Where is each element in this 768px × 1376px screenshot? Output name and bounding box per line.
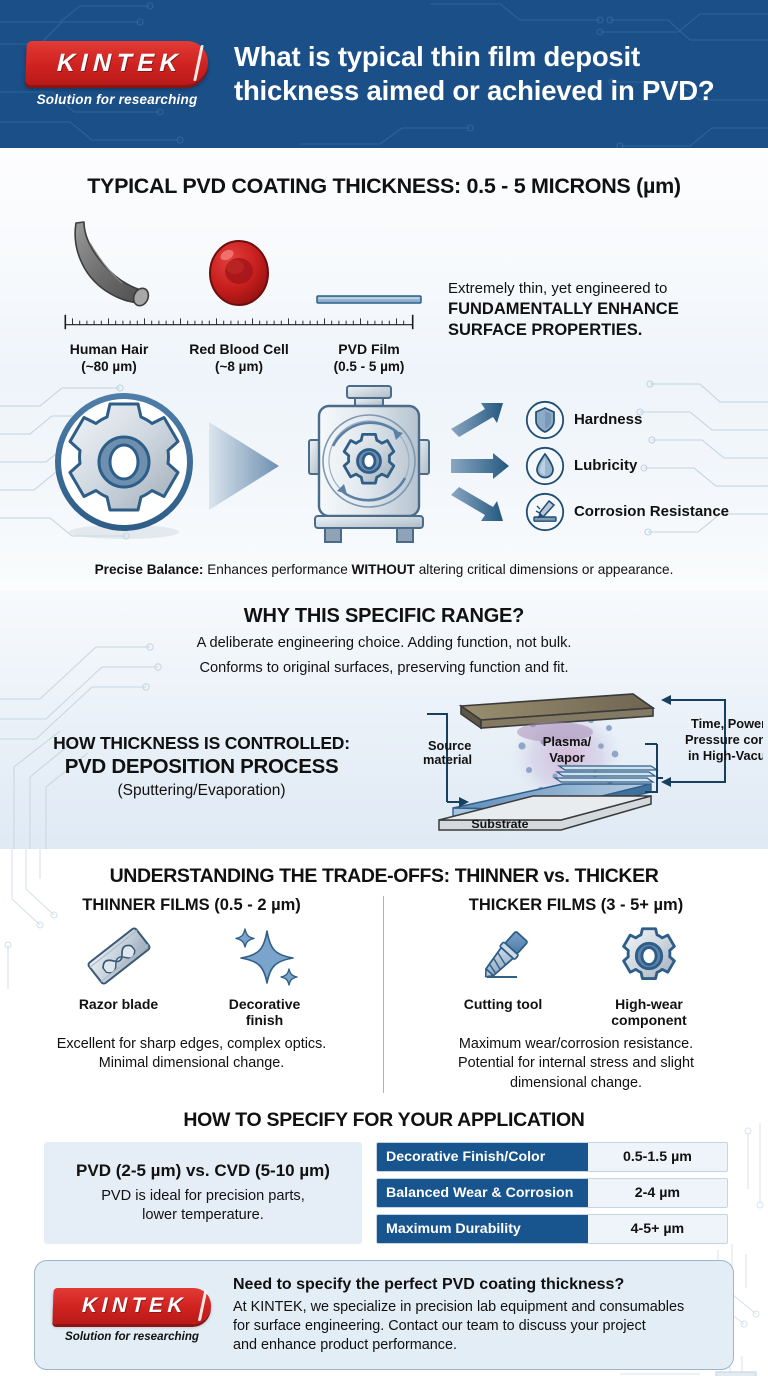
section-specify: HOW TO SPECIFY FOR YOUR APPLICATION PVD …	[0, 1093, 768, 1244]
scale-item-value: (~8 µm)	[174, 358, 304, 376]
gear-icon	[611, 925, 687, 987]
section-tradeoffs: UNDERSTANDING THE TRADE-OFFS: THINNER vs…	[0, 849, 768, 1093]
specify-title: HOW TO SPECIFY FOR YOUR APPLICATION	[0, 1109, 768, 1132]
table-row: Balanced Wear & Corrosion 2-4 µm	[376, 1178, 728, 1208]
cta-logo: KINTEK Solution for researching	[53, 1288, 221, 1343]
droplet-icon	[525, 446, 565, 486]
thickness-title: TYPICAL PVD COATING THICKNESS: 0.5 - 5 M…	[0, 174, 768, 199]
shield-icon	[525, 400, 565, 440]
table-cell-value: 2-4 µm	[588, 1179, 727, 1207]
table-row: Decorative Finish/Color 0.5-1.5 µm	[376, 1142, 728, 1172]
precise-balance-text-2: altering critical dimensions or appearan…	[415, 562, 673, 577]
cta-text: Need to specify the perfect PVD coating …	[233, 1275, 717, 1355]
plasma-label-2: Vapor	[549, 750, 585, 765]
infographic-page: KINTEK Solution for researching What is …	[0, 0, 768, 1376]
scale-label-item: Human Hair (~80 µm)	[44, 340, 174, 376]
thinner-heading: THINNER FILMS (0.5 - 2 µm)	[14, 896, 369, 915]
scale-item-name: Red Blood Cell	[174, 340, 304, 358]
scale-labels: Human Hair (~80 µm) Red Blood Cell (~8 µ…	[44, 340, 434, 376]
thinner-icons: Razor blade Decorative finish	[14, 925, 369, 1028]
thickness-note: Extremely thin, yet engineered to FUNDAM…	[434, 279, 726, 376]
precise-balance-note: Precise Balance: Enhances performance WI…	[0, 550, 768, 591]
precise-balance-emphasis: WITHOUT	[352, 562, 415, 577]
tradeoffs-thicker-column: THICKER FILMS (3 - 5+ µm)	[384, 896, 768, 1093]
ruler-scale	[44, 313, 434, 331]
precise-balance-label: Precise Balance:	[95, 562, 204, 577]
pvd-film-bar-icon	[315, 291, 423, 309]
thicker-body-line1: Maximum wear/corrosion resistance.	[398, 1035, 754, 1054]
thicker-icon-gear: High-wear component	[593, 925, 705, 1028]
pvd-cvd-heading: PVD (2-5 µm) vs. CVD (5-10 µm)	[76, 1161, 330, 1181]
component-gear-icon	[39, 382, 209, 550]
table-cell-key: Decorative Finish/Color	[377, 1143, 588, 1171]
page-header: KINTEK Solution for researching What is …	[0, 0, 768, 148]
benefits-list: Hardness Lubricity	[525, 397, 729, 535]
specimen-row	[44, 213, 434, 309]
why-range-title: WHY THIS SPECIFIC RANGE?	[0, 605, 768, 628]
section-process-benefits: Hardness Lubricity	[0, 376, 768, 591]
thicker-icons: Cutting tool High-wear component	[398, 925, 754, 1028]
cta-logo-tagline: Solution for researching	[53, 1330, 211, 1343]
pvd-cvd-line2: lower temperature.	[142, 1206, 264, 1225]
vacuum-chamber-icon	[289, 382, 449, 550]
thickness-note-line1: Extremely thin, yet engineered to	[448, 279, 726, 299]
scale-label-item: Red Blood Cell (~8 µm)	[174, 340, 304, 376]
sparkle-icon	[227, 925, 303, 987]
thinner-icon-sparkle: Decorative finish	[209, 925, 321, 1028]
table-cell-key: Maximum Durability	[377, 1215, 588, 1243]
source-material-label-2: material	[423, 752, 472, 767]
benefit-label: Lubricity	[574, 457, 637, 474]
pvd-cvd-line1: PVD is ideal for precision parts,	[101, 1187, 305, 1206]
thicker-icon-caption: Cutting tool	[447, 996, 559, 1012]
table-cell-value: 4-5+ µm	[588, 1215, 727, 1243]
control-label-3: in High-Vacuum	[688, 748, 763, 763]
cta-box: KINTEK Solution for researching Need to …	[34, 1260, 734, 1370]
plasma-label: Plasma/	[543, 734, 592, 749]
benefit-item-lubricity: Lubricity	[525, 443, 729, 489]
specimen-pvd-film	[304, 213, 434, 309]
logo-plate: KINTEK	[25, 41, 209, 85]
cta-body-line2: for surface engineering. Contact our tea…	[233, 1317, 717, 1336]
logo-wordmark: KINTEK	[50, 49, 183, 78]
pvd-deposition-diagram-icon: Substrate Source materi	[395, 684, 763, 849]
section-typical-thickness: TYPICAL PVD COATING THICKNESS: 0.5 - 5 M…	[0, 148, 768, 376]
corrosion-icon	[525, 492, 565, 532]
specify-row: PVD (2-5 µm) vs. CVD (5-10 µm) PVD is id…	[0, 1132, 768, 1244]
cta-logo-wordmark: KINTEK	[76, 1294, 187, 1318]
scale-item-name: Human Hair	[44, 340, 174, 358]
thicker-body-line3: dimensional change.	[398, 1074, 754, 1093]
deposition-process-text: HOW THICKNESS IS CONTROLLED: PVD DEPOSIT…	[0, 733, 395, 800]
scale-comparison: Human Hair (~80 µm) Red Blood Cell (~8 µ…	[0, 199, 768, 376]
table-row: Maximum Durability 4-5+ µm	[376, 1214, 728, 1244]
benefit-label: Hardness	[574, 411, 642, 428]
control-label-1: Time, Power,	[691, 716, 763, 731]
header-logo: KINTEK Solution for researching	[26, 41, 222, 107]
table-cell-key: Balanced Wear & Corrosion	[377, 1179, 588, 1207]
thinner-icon-caption: Decorative finish	[209, 996, 321, 1028]
process-flow: Hardness Lubricity	[0, 382, 768, 550]
drill-bit-icon	[465, 925, 541, 987]
thinner-body-line1: Excellent for sharp edges, complex optic…	[14, 1035, 369, 1054]
tradeoffs-thinner-column: THINNER FILMS (0.5 - 2 µm)	[0, 896, 384, 1093]
flow-arrow-wedge-icon	[209, 406, 289, 526]
benefit-arrows-icon	[449, 391, 515, 541]
human-hair-icon	[64, 217, 154, 309]
specify-table: Decorative Finish/Color 0.5-1.5 µm Balan…	[376, 1142, 728, 1244]
specimen-red-blood-cell	[174, 213, 304, 309]
deposition-process-row: HOW THICKNESS IS CONTROLLED: PVD DEPOSIT…	[0, 684, 768, 849]
thicker-body-line2: Potential for internal stress and slight	[398, 1054, 754, 1073]
thickness-note-line2: FUNDAMENTALLY ENHANCE SURFACE PROPERTIES…	[448, 299, 726, 342]
benefit-item-corrosion: Corrosion Resistance	[525, 489, 729, 535]
tradeoffs-columns: THINNER FILMS (0.5 - 2 µm)	[0, 896, 768, 1093]
deposition-diagram: Substrate Source materi	[395, 684, 768, 849]
thicker-icon-drill: Cutting tool	[447, 925, 559, 1028]
process-line2: PVD DEPOSITION PROCESS	[8, 755, 395, 779]
cta-heading: Need to specify the perfect PVD coating …	[233, 1275, 717, 1295]
source-material-label: Source	[428, 738, 471, 753]
red-blood-cell-icon	[202, 235, 276, 309]
razor-blade-icon	[81, 925, 157, 987]
thinner-body-line2: Minimal dimensional change.	[14, 1054, 369, 1073]
specimen-human-hair	[44, 213, 174, 309]
benefit-item-hardness: Hardness	[525, 397, 729, 443]
scale-item-value: (~80 µm)	[44, 358, 174, 376]
table-cell-value: 0.5-1.5 µm	[588, 1143, 727, 1171]
thicker-heading: THICKER FILMS (3 - 5+ µm)	[398, 896, 754, 915]
process-line3: (Sputtering/Evaporation)	[8, 782, 395, 800]
why-range-sub-line1: A deliberate engineering choice. Adding …	[0, 633, 768, 653]
scale-left: Human Hair (~80 µm) Red Blood Cell (~8 µ…	[44, 213, 434, 376]
section-footer-cta: KINTEK Solution for researching Need to …	[0, 1244, 768, 1376]
thinner-icon-razor: Razor blade	[63, 925, 175, 1028]
thicker-icon-caption: High-wear component	[593, 996, 705, 1028]
scale-label-item: PVD Film (0.5 - 5 µm)	[304, 340, 434, 376]
cta-logo-plate: KINTEK	[52, 1288, 211, 1324]
scale-item-value: (0.5 - 5 µm)	[304, 358, 434, 376]
cta-body-line1: At KINTEK, we specialize in precision la…	[233, 1298, 717, 1317]
tradeoffs-title: UNDERSTANDING THE TRADE-OFFS: THINNER vs…	[0, 865, 768, 888]
page-title: What is typical thin film deposit thickn…	[234, 40, 750, 107]
control-label-2: Pressure control	[685, 732, 763, 747]
why-range-sub-line2: Conforms to original surfaces, preservin…	[0, 658, 768, 678]
scale-item-name: PVD Film	[304, 340, 434, 358]
section-why-range: WHY THIS SPECIFIC RANGE? A deliberate en…	[0, 591, 768, 849]
thinner-icon-caption: Razor blade	[63, 996, 175, 1012]
benefit-label: Corrosion Resistance	[574, 503, 729, 520]
pvd-cvd-compare-card: PVD (2-5 µm) vs. CVD (5-10 µm) PVD is id…	[44, 1142, 362, 1244]
substrate-label: Substrate	[471, 817, 528, 831]
logo-tagline: Solution for researching	[26, 92, 208, 107]
precise-balance-text-1: Enhances performance	[203, 562, 351, 577]
process-line1: HOW THICKNESS IS CONTROLLED:	[8, 733, 395, 754]
cta-body-line3: and enhance product performance.	[233, 1336, 717, 1355]
